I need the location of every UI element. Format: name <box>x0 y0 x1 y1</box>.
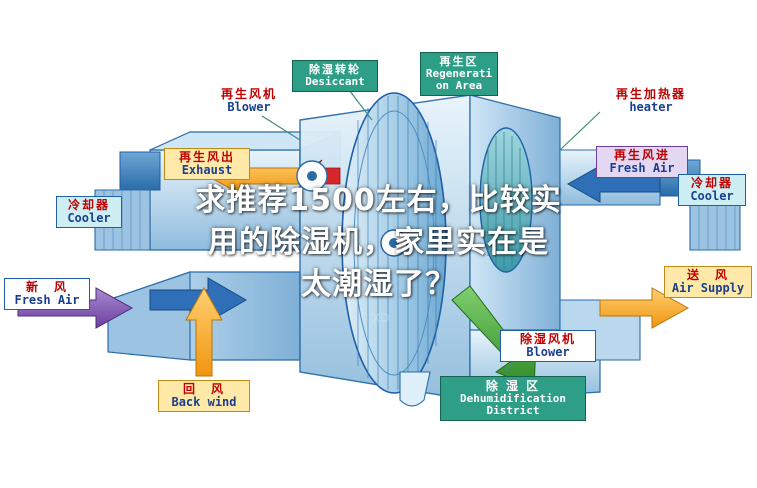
label-desiccant: 除湿转轮 Desiccant <box>292 60 378 92</box>
label-regeneration-area: 再生区 Regenerati on Area <box>420 52 498 96</box>
label-regen-blower-en: Blower <box>200 101 298 114</box>
label-dehum-blower-en: Blower <box>503 346 593 359</box>
label-back-wind-en: Back wind <box>161 396 247 409</box>
label-back-wind: 回 风 Back wind <box>158 380 250 412</box>
label-dehumidification-district: 除 湿 区 Dehumidification District <box>440 376 586 421</box>
label-dehum-blower: 除湿风机 Blower <box>500 330 596 362</box>
label-regen-heater: 再生加热器 heater <box>596 88 706 114</box>
label-desiccant-en: Desiccant <box>295 76 375 88</box>
label-exhaust: 再生风出 Exhaust <box>164 148 250 180</box>
overlay-caption-line3: 太潮湿了？ <box>0 264 757 306</box>
overlay-caption-line1: 求推荐1500左右，比较实 <box>0 180 757 222</box>
label-regen-heater-en: heater <box>596 101 706 114</box>
label-exhaust-en: Exhaust <box>167 164 247 177</box>
label-dehum-district-en: Dehumidification District <box>443 393 583 417</box>
label-regen-inlet: 再生风进 Fresh Air <box>596 146 688 178</box>
svg-text:XD: XD <box>372 311 389 325</box>
overlay-caption-line2: 用的除湿机，家里实在是 <box>0 222 757 264</box>
label-regen-blower: 再生风机 Blower <box>200 88 298 114</box>
diagram-canvas: XD 除湿转轮 Desiccant 再生区 Regenerati on Area… <box>0 0 757 488</box>
label-regen-inlet-en: Fresh Air <box>599 162 685 175</box>
overlay-caption: 求推荐1500左右，比较实 用的除湿机，家里实在是 太潮湿了？ <box>0 180 757 306</box>
label-regeneration-area-en: Regenerati on Area <box>423 68 495 92</box>
